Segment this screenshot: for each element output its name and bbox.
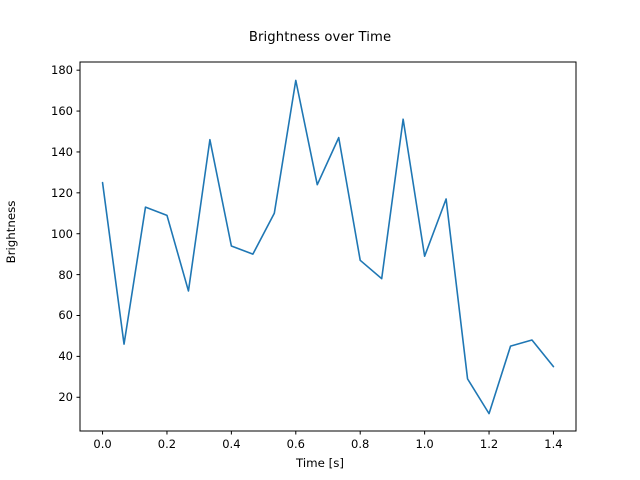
x-tick-label: 1.2 [459,437,519,451]
y-tick-label: 40 [33,349,73,363]
y-tick-label: 120 [33,186,73,200]
y-axis-label: Brightness [4,162,18,302]
y-tick-label: 20 [33,390,73,404]
x-tick-label: 1.4 [523,437,583,451]
x-tick-label: 0.0 [73,437,133,451]
x-axis-label: Time [s] [0,456,640,470]
y-tick-label: 180 [33,63,73,77]
x-tick-label: 0.8 [330,437,390,451]
x-tick-label: 0.2 [137,437,197,451]
y-tick-label: 80 [33,268,73,282]
y-tick-label: 140 [33,145,73,159]
y-tick-label: 100 [33,227,73,241]
figure-canvas: Brightness over Time 2040608010012014016… [0,0,640,480]
x-tick-label: 1.0 [395,437,455,451]
plot-area [0,0,640,480]
x-tick-label: 0.4 [201,437,261,451]
x-tick-labels: 0.00.20.40.60.81.01.21.4 [0,437,640,457]
y-tick-labels: 20406080100120140160180 [28,0,73,480]
y-tick-label: 160 [33,104,73,118]
x-tick-label: 0.6 [266,437,326,451]
y-tick-label: 60 [33,308,73,322]
